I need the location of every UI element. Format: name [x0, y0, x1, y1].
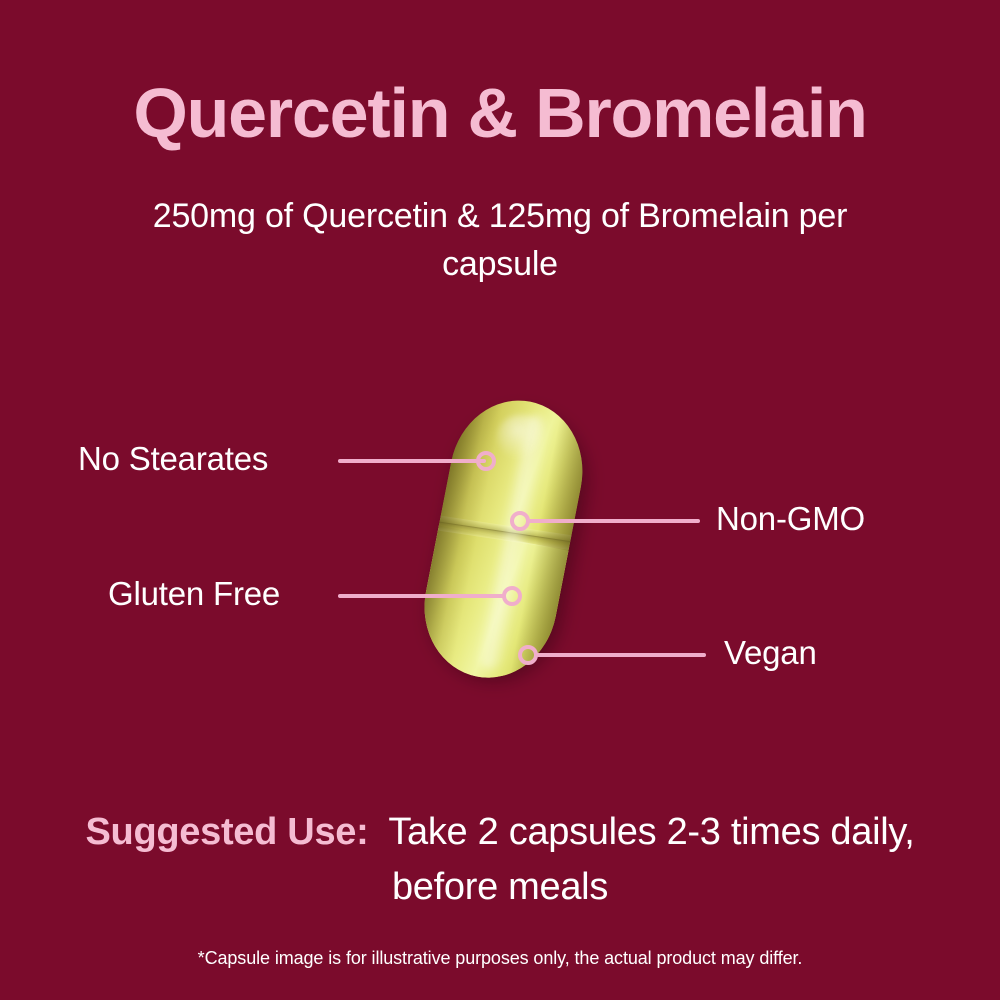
capsule-top-highlight	[493, 410, 549, 464]
suggested-use: Suggested Use: Take 2 capsules 2-3 times…	[60, 805, 940, 915]
callout-dot-vegan	[518, 645, 538, 665]
callout-dot-no-stearates	[476, 451, 496, 471]
suggested-use-text: Take 2 capsules 2-3 times daily, before …	[388, 811, 914, 908]
capsule-cap-edge	[422, 513, 595, 546]
callout-line-vegan	[536, 653, 706, 657]
callout-label-vegan: Vegan	[724, 634, 817, 672]
callout-line-no-stearates	[338, 459, 486, 463]
callout-label-no-stearates: No Stearates	[78, 440, 268, 478]
capsule-shell	[412, 389, 595, 689]
product-infographic: Quercetin & Bromelain 250mg of Quercetin…	[0, 0, 1000, 1000]
page-title: Quercetin & Bromelain	[0, 78, 1000, 148]
callout-dot-non-gmo	[510, 511, 530, 531]
callout-dot-gluten-free	[502, 586, 522, 606]
capsule-left-shading	[412, 389, 505, 671]
suggested-use-lead: Suggested Use:	[86, 811, 369, 853]
product-subtitle: 250mg of Quercetin & 125mg of Bromelain …	[100, 192, 900, 289]
callout-label-gluten-free: Gluten Free	[108, 575, 280, 613]
suggested-use-spacer	[368, 811, 388, 853]
capsule-shadow	[417, 400, 598, 692]
callout-line-gluten-free	[338, 594, 504, 598]
capsule-lower-half	[412, 523, 582, 689]
callout-line-non-gmo	[528, 519, 700, 523]
capsule-graphic	[411, 389, 605, 695]
callout-label-non-gmo: Non-GMO	[716, 500, 865, 538]
disclaimer-footnote: *Capsule image is for illustrative purpo…	[100, 948, 900, 969]
capsule-seam	[420, 519, 595, 554]
